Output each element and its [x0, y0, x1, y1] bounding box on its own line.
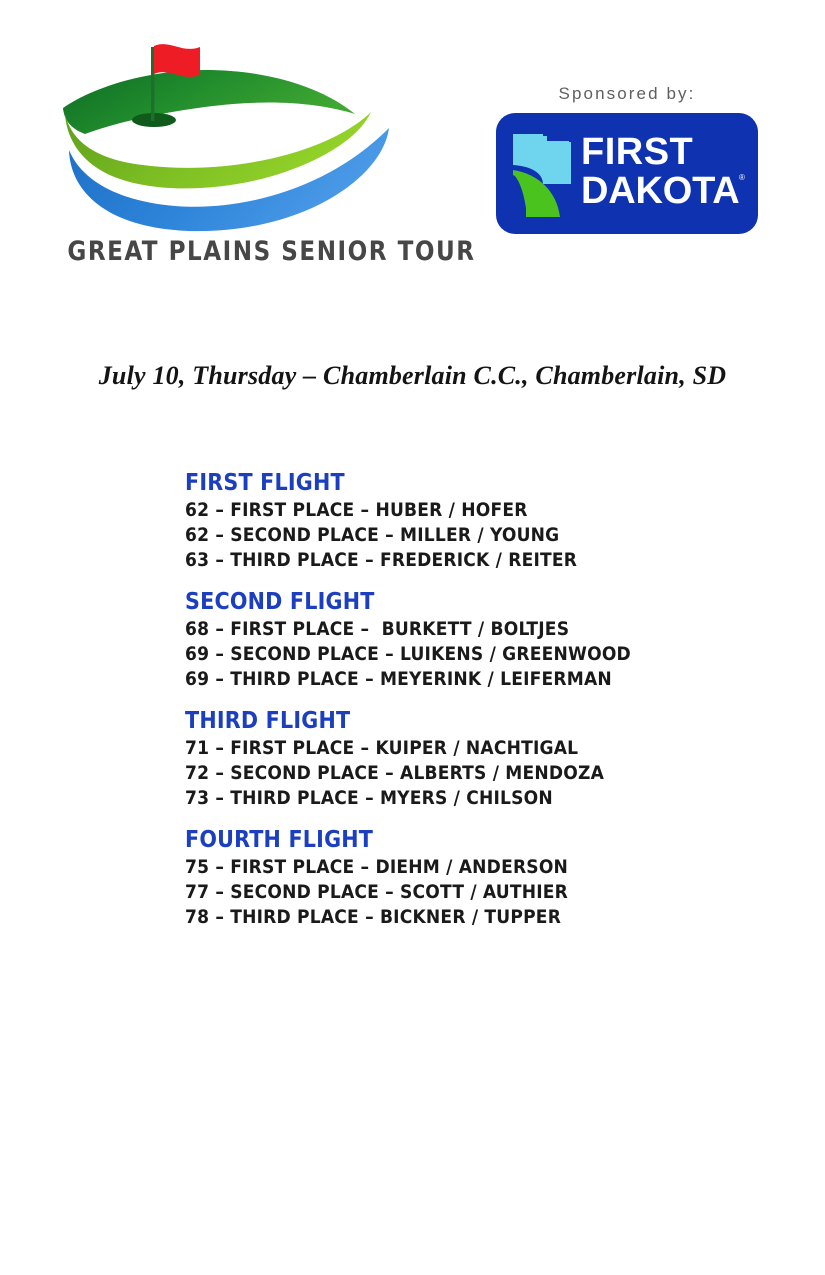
result-line: 68 – FIRST PLACE – BURKETT / BOLTJES: [185, 617, 785, 642]
sponsored-by-label: Sponsored by:: [496, 84, 758, 104]
flight-group: FOURTH FLIGHT75 – FIRST PLACE – DIEHM / …: [185, 827, 785, 930]
flight-group: FIRST FLIGHT62 – FIRST PLACE – HUBER / H…: [185, 470, 785, 573]
golf-green-swoosh-icon: [55, 30, 390, 235]
flight-title: FOURTH FLIGHT: [185, 827, 785, 853]
result-line: 75 – FIRST PLACE – DIEHM / ANDERSON: [185, 855, 785, 880]
flight-group: SECOND FLIGHT68 – FIRST PLACE – BURKETT …: [185, 589, 785, 692]
result-line: 78 – THIRD PLACE – BICKNER / TUPPER: [185, 905, 785, 930]
result-line: 69 – THIRD PLACE – MEYERINK / LEIFERMAN: [185, 667, 785, 692]
event-heading: July 10, Thursday – Chamberlain C.C., Ch…: [0, 361, 825, 391]
sponsor-block: Sponsored by: FIRST DAKOTA ®: [496, 84, 758, 234]
first-dakota-logo[interactable]: FIRST DAKOTA ®: [496, 113, 758, 234]
result-line: 62 – FIRST PLACE – HUBER / HOFER: [185, 498, 785, 523]
result-line: 72 – SECOND PLACE – ALBERTS / MENDOZA: [185, 761, 785, 786]
result-line: 73 – THIRD PLACE – MYERS / CHILSON: [185, 786, 785, 811]
result-line: 71 – FIRST PLACE – KUIPER / NACHTIGAL: [185, 736, 785, 761]
result-line: 77 – SECOND PLACE – SCOTT / AUTHIER: [185, 880, 785, 905]
first-dakota-mark-icon: [513, 132, 571, 217]
results-list: FIRST FLIGHT62 – FIRST PLACE – HUBER / H…: [185, 470, 785, 930]
registered-trademark-icon: ®: [739, 173, 745, 182]
page-header: GREAT PLAINS SENIOR TOUR Sponsored by: F…: [0, 0, 825, 300]
result-line: 63 – THIRD PLACE – FREDERICK / REITER: [185, 548, 785, 573]
great-plains-senior-tour-logo: GREAT PLAINS SENIOR TOUR: [55, 30, 390, 280]
flight-title: FIRST FLIGHT: [185, 470, 785, 496]
first-dakota-line1: FIRST: [581, 133, 693, 171]
first-dakota-line2: DAKOTA: [581, 172, 740, 210]
tour-wordmark: GREAT PLAINS SENIOR TOUR: [67, 236, 385, 267]
result-line: 62 – SECOND PLACE – MILLER / YOUNG: [185, 523, 785, 548]
flight-title: SECOND FLIGHT: [185, 589, 785, 615]
flight-group: THIRD FLIGHT71 – FIRST PLACE – KUIPER / …: [185, 708, 785, 811]
result-line: 69 – SECOND PLACE – LUIKENS / GREENWOOD: [185, 642, 785, 667]
flight-title: THIRD FLIGHT: [185, 708, 785, 734]
